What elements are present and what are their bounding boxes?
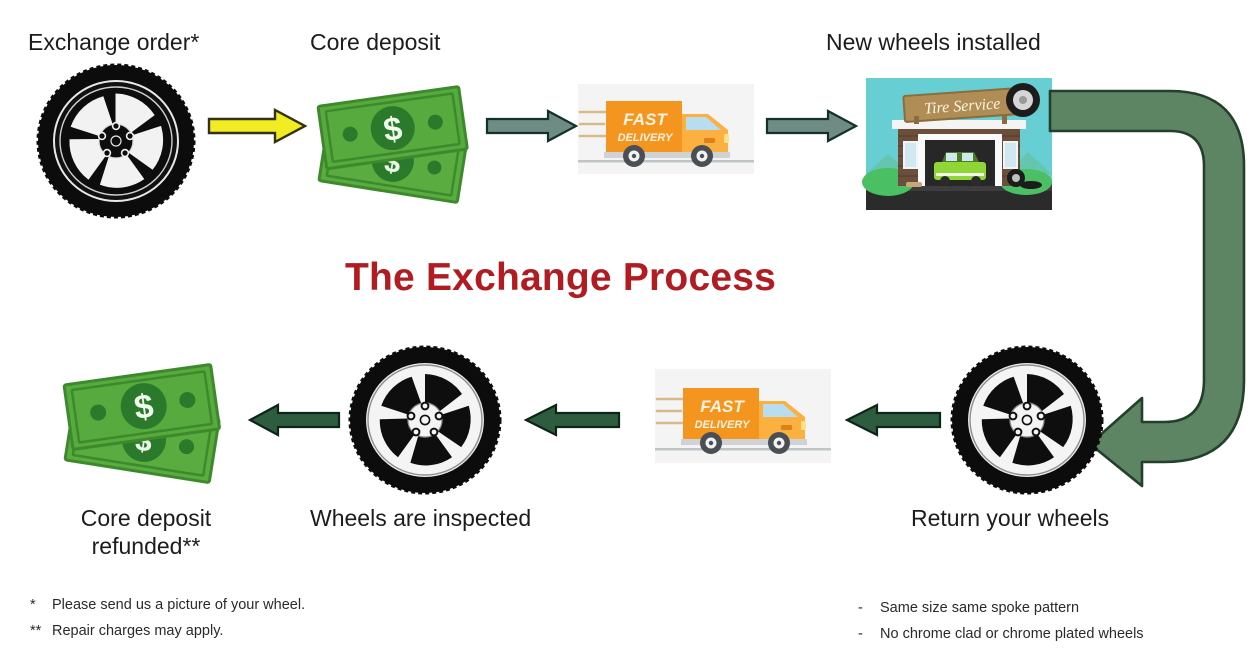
top-step-label-new-wheels-installed: New wheels installed — [826, 28, 1041, 56]
refund-label-line2: refunded** — [92, 533, 201, 559]
arrow-inspection-to-refund — [248, 404, 340, 436]
arrow-return-to-shipping — [845, 404, 941, 436]
footnote-marker: ** — [30, 619, 52, 644]
footnote-marker: - — [858, 622, 880, 647]
dollar-bills-icon-bottom: $ $ — [58, 348, 233, 488]
tire-service-shop-icon: Tire Service — [866, 78, 1052, 210]
refund-label-line1: Core deposit — [81, 505, 211, 531]
page-title: The Exchange Process — [345, 256, 776, 300]
footnote-left-2: **Repair charges may apply. — [30, 619, 223, 644]
footnote-right-1: -Same size same spoke pattern — [858, 596, 1079, 621]
footnote-marker: * — [30, 593, 52, 618]
top-step-label-core-deposit: Core deposit — [310, 28, 440, 56]
truck-text-line2: DELIVERY — [618, 132, 674, 144]
fast-delivery-truck-icon-top: FAST DELIVERY — [578, 84, 754, 174]
fast-delivery-truck-icon-bottom: FAST DELIVERY — [655, 369, 831, 463]
arrow-exchange-to-deposit — [207, 108, 307, 144]
footnote-text: Repair charges may apply. — [52, 623, 223, 639]
black-alloy-wheel-icon — [36, 64, 196, 219]
arrow-deposit-to-shipping — [486, 110, 578, 142]
dollar-bills-icon-top: $ $ — [312, 72, 477, 206]
bottom-step-label-return-your-wheels: Return your wheels — [911, 504, 1109, 532]
footnote-left-1: *Please send us a picture of your wheel. — [30, 593, 305, 618]
footnote-marker: - — [858, 596, 880, 621]
truck-text-line1: FAST — [700, 397, 745, 416]
bottom-step-label-core-deposit-refunded: Core deposit refunded** — [35, 504, 257, 560]
silver-alloy-wheel-icon-return — [951, 346, 1103, 494]
truck-text-line1: FAST — [623, 110, 668, 129]
silver-alloy-wheel-icon-inspected — [349, 346, 501, 494]
truck-text-line2: DELIVERY — [695, 419, 751, 431]
footnote-text: No chrome clad or chrome plated wheels — [880, 626, 1144, 642]
top-step-label-exchange-order: Exchange order* — [28, 28, 199, 56]
exchange-process-diagram: Exchange order* Core deposit New wheels … — [0, 0, 1250, 666]
arrow-shipping-to-install — [766, 110, 858, 142]
arrow-shipping-to-inspection — [524, 404, 620, 436]
footnote-text: Same size same spoke pattern — [880, 600, 1079, 616]
footnote-text: Please send us a picture of your wheel. — [52, 597, 305, 613]
bottom-step-label-wheels-inspected: Wheels are inspected — [310, 504, 531, 532]
footnote-right-2: -No chrome clad or chrome plated wheels — [858, 622, 1144, 647]
